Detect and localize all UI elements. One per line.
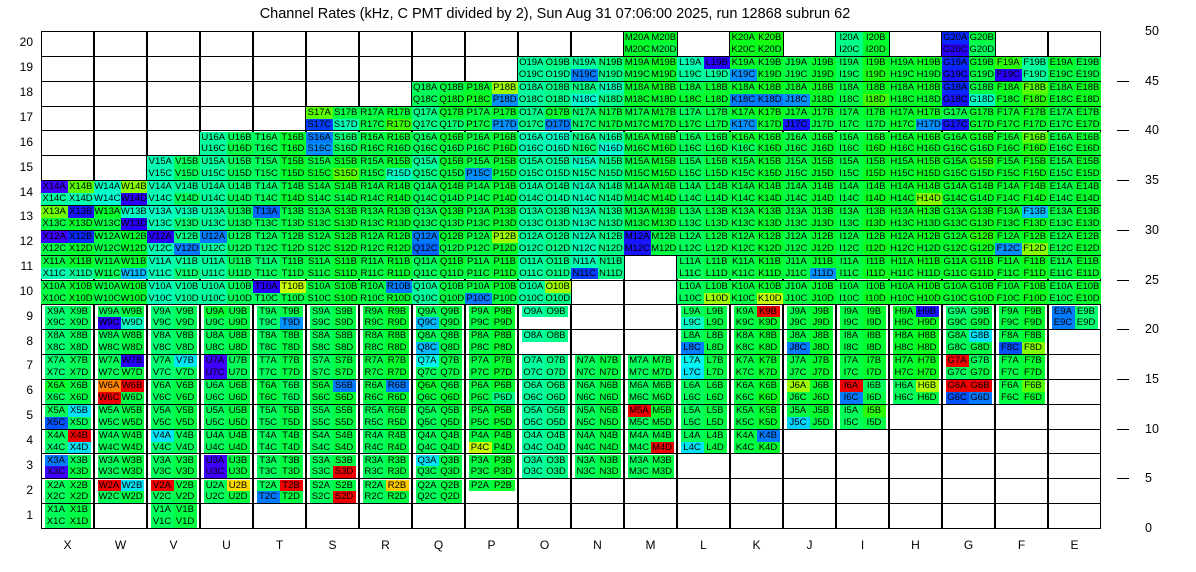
- channel-cell[interactable]: F10C: [995, 293, 1022, 305]
- channel-cell[interactable]: L19C: [677, 69, 704, 81]
- channel-cell[interactable]: I20B: [863, 32, 890, 44]
- channel-cell[interactable]: K14C: [730, 193, 757, 205]
- channel-cell[interactable]: P7A: [469, 355, 492, 367]
- channel-cell[interactable]: W6D: [121, 392, 144, 404]
- channel-cell[interactable]: I6D: [863, 392, 886, 404]
- channel-cell[interactable]: T13D: [280, 218, 307, 230]
- channel-cell[interactable]: O9A: [522, 306, 545, 318]
- channel-cell[interactable]: K20B: [757, 32, 784, 44]
- channel-cell[interactable]: K15D: [757, 168, 784, 180]
- channel-cell[interactable]: J8A: [787, 330, 810, 342]
- channel-cell[interactable]: P13C: [465, 218, 492, 230]
- channel-cell[interactable]: J10D: [810, 293, 837, 305]
- channel-cell[interactable]: H19B: [916, 57, 943, 69]
- channel-cell[interactable]: W7D: [121, 367, 144, 379]
- channel-cell[interactable]: E11C: [1048, 268, 1075, 280]
- channel-cell[interactable]: O10C: [518, 293, 545, 305]
- channel-cell[interactable]: H12B: [916, 231, 943, 243]
- channel-cell[interactable]: L18A: [677, 82, 704, 94]
- channel-cell[interactable]: E10B: [1075, 281, 1102, 293]
- channel-cell[interactable]: L16A: [677, 132, 704, 144]
- channel-cell[interactable]: W14A: [94, 181, 121, 193]
- channel-cell[interactable]: N4B: [598, 430, 621, 442]
- channel-cell[interactable]: Q6D: [439, 392, 462, 404]
- channel-cell[interactable]: E15B: [1075, 156, 1102, 168]
- channel-cell[interactable]: U12A: [200, 231, 227, 243]
- channel-cell[interactable]: T4A: [257, 430, 280, 442]
- channel-cell[interactable]: O4A: [522, 430, 545, 442]
- channel-cell[interactable]: M13B: [651, 206, 678, 218]
- channel-cell[interactable]: G14A: [942, 181, 969, 193]
- channel-cell[interactable]: F13D: [1022, 218, 1049, 230]
- channel-cell[interactable]: I15D: [863, 168, 890, 180]
- channel-cell[interactable]: J17B: [810, 107, 837, 119]
- channel-cell[interactable]: F18B: [1022, 82, 1049, 94]
- channel-cell[interactable]: N18A: [571, 82, 598, 94]
- channel-cell[interactable]: P3D: [492, 466, 515, 478]
- channel-cell[interactable]: S2A: [310, 480, 333, 492]
- channel-cell[interactable]: O15C: [518, 168, 545, 180]
- channel-cell[interactable]: P12D: [492, 243, 519, 255]
- channel-cell[interactable]: G11C: [942, 268, 969, 280]
- channel-cell[interactable]: P12A: [465, 231, 492, 243]
- channel-cell[interactable]: R14A: [359, 181, 386, 193]
- channel-cell[interactable]: V13C: [147, 218, 174, 230]
- channel-cell[interactable]: F7A: [999, 355, 1022, 367]
- channel-cell[interactable]: Q18C: [412, 94, 439, 106]
- channel-cell[interactable]: S12D: [333, 243, 360, 255]
- channel-cell[interactable]: K9B: [757, 306, 780, 318]
- channel-cell[interactable]: Q8A: [416, 330, 439, 342]
- channel-cell[interactable]: M14B: [651, 181, 678, 193]
- channel-cell[interactable]: P17A: [465, 107, 492, 119]
- channel-cell[interactable]: K13B: [757, 206, 784, 218]
- channel-cell[interactable]: R2D: [386, 491, 409, 503]
- channel-cell[interactable]: N12C: [571, 243, 598, 255]
- channel-cell[interactable]: O14D: [545, 193, 572, 205]
- channel-cell[interactable]: I10D: [863, 293, 890, 305]
- channel-cell[interactable]: F19C: [995, 69, 1022, 81]
- channel-cell[interactable]: T4C: [257, 442, 280, 454]
- channel-cell[interactable]: S3D: [333, 466, 356, 478]
- channel-cell[interactable]: K4B: [757, 430, 780, 442]
- channel-cell[interactable]: R10B: [386, 281, 413, 293]
- channel-cell[interactable]: F14A: [995, 181, 1022, 193]
- channel-cell[interactable]: E15A: [1048, 156, 1075, 168]
- channel-cell[interactable]: L9B: [704, 306, 727, 318]
- channel-cell[interactable]: Q6C: [416, 392, 439, 404]
- channel-cell[interactable]: E12C: [1048, 243, 1075, 255]
- channel-cell[interactable]: K18C: [730, 94, 757, 106]
- channel-cell[interactable]: M18C: [624, 94, 651, 106]
- channel-cell[interactable]: Q2B: [439, 480, 462, 492]
- channel-cell[interactable]: Q15D: [439, 168, 466, 180]
- channel-cell[interactable]: T2A: [257, 480, 280, 492]
- channel-cell[interactable]: S6C: [310, 392, 333, 404]
- channel-cell[interactable]: F12C: [995, 243, 1022, 255]
- channel-cell[interactable]: Q7C: [416, 367, 439, 379]
- channel-cell[interactable]: M7B: [651, 355, 674, 367]
- channel-cell[interactable]: M12C: [624, 243, 651, 255]
- channel-cell[interactable]: Q3A: [416, 455, 439, 467]
- channel-cell[interactable]: J5B: [810, 405, 833, 417]
- channel-cell[interactable]: U14D: [227, 193, 254, 205]
- channel-cell[interactable]: L19A: [677, 57, 704, 69]
- channel-cell[interactable]: V8B: [174, 330, 197, 342]
- channel-cell[interactable]: K13D: [757, 218, 784, 230]
- channel-cell[interactable]: P5A: [469, 405, 492, 417]
- channel-cell[interactable]: V11D: [174, 268, 201, 280]
- channel-cell[interactable]: P18A: [465, 82, 492, 94]
- channel-cell[interactable]: T12A: [253, 231, 280, 243]
- channel-cell[interactable]: H17D: [916, 119, 943, 131]
- channel-cell[interactable]: I12D: [863, 243, 890, 255]
- channel-cell[interactable]: H9B: [916, 306, 939, 318]
- channel-cell[interactable]: E15D: [1075, 168, 1102, 180]
- channel-cell[interactable]: G20C: [942, 44, 969, 56]
- channel-cell[interactable]: M3A: [628, 455, 651, 467]
- channel-cell[interactable]: T10B: [280, 281, 307, 293]
- channel-cell[interactable]: I6C: [840, 392, 863, 404]
- channel-cell[interactable]: L12D: [704, 243, 731, 255]
- channel-cell[interactable]: S11C: [306, 268, 333, 280]
- channel-cell[interactable]: K13A: [730, 206, 757, 218]
- channel-cell[interactable]: J15A: [783, 156, 810, 168]
- channel-cell[interactable]: E9B: [1075, 306, 1098, 318]
- channel-cell[interactable]: G18B: [969, 82, 996, 94]
- channel-cell[interactable]: O13D: [545, 218, 572, 230]
- channel-cell[interactable]: E9D: [1075, 317, 1098, 329]
- channel-cell[interactable]: U3C: [204, 466, 227, 478]
- channel-cell[interactable]: E17D: [1075, 119, 1102, 131]
- channel-cell[interactable]: I17C: [836, 119, 863, 131]
- channel-cell[interactable]: T7B: [280, 355, 303, 367]
- channel-cell[interactable]: U4B: [227, 430, 250, 442]
- channel-cell[interactable]: T14D: [280, 193, 307, 205]
- channel-cell[interactable]: F17A: [995, 107, 1022, 119]
- channel-cell[interactable]: S16D: [333, 143, 360, 155]
- channel-cell[interactable]: R16C: [359, 143, 386, 155]
- channel-cell[interactable]: M14C: [624, 193, 651, 205]
- channel-cell[interactable]: H17A: [889, 107, 916, 119]
- channel-cell[interactable]: U15B: [227, 156, 254, 168]
- channel-cell[interactable]: U13D: [227, 218, 254, 230]
- channel-cell[interactable]: O11A: [518, 256, 545, 268]
- channel-cell[interactable]: J15D: [810, 168, 837, 180]
- channel-cell[interactable]: Q9B: [439, 306, 462, 318]
- channel-cell[interactable]: I13D: [863, 218, 890, 230]
- channel-cell[interactable]: V11C: [147, 268, 174, 280]
- channel-cell[interactable]: V5C: [151, 417, 174, 429]
- channel-cell[interactable]: Q12A: [412, 231, 439, 243]
- channel-cell[interactable]: K18D: [757, 94, 784, 106]
- channel-cell[interactable]: L17C: [677, 119, 704, 131]
- channel-cell[interactable]: P8C: [469, 342, 492, 354]
- channel-cell[interactable]: P7D: [492, 367, 515, 379]
- channel-cell[interactable]: J13B: [810, 206, 837, 218]
- channel-cell[interactable]: O12D: [545, 243, 572, 255]
- channel-cell[interactable]: R5C: [363, 417, 386, 429]
- channel-cell[interactable]: G8B: [969, 330, 992, 342]
- channel-cell[interactable]: N16A: [571, 132, 598, 144]
- channel-cell[interactable]: T6B: [280, 380, 303, 392]
- channel-cell[interactable]: G20D: [969, 44, 996, 56]
- channel-cell[interactable]: O6D: [545, 392, 568, 404]
- channel-cell[interactable]: W12A: [94, 231, 121, 243]
- channel-cell[interactable]: N12B: [598, 231, 625, 243]
- channel-cell[interactable]: Q3D: [439, 466, 462, 478]
- channel-cell[interactable]: E11D: [1075, 268, 1102, 280]
- channel-cell[interactable]: X9A: [45, 306, 68, 318]
- channel-cell[interactable]: Q10C: [412, 293, 439, 305]
- channel-cell[interactable]: E13A: [1048, 206, 1075, 218]
- channel-cell[interactable]: K10C: [730, 293, 757, 305]
- channel-cell[interactable]: O17B: [545, 107, 572, 119]
- channel-cell[interactable]: T9D: [280, 317, 303, 329]
- channel-cell[interactable]: H12C: [889, 243, 916, 255]
- channel-cell[interactable]: E18C: [1048, 94, 1075, 106]
- channel-cell[interactable]: T10C: [253, 293, 280, 305]
- channel-cell[interactable]: T14A: [253, 181, 280, 193]
- channel-cell[interactable]: G19B: [969, 57, 996, 69]
- channel-cell[interactable]: N15B: [598, 156, 625, 168]
- channel-cell[interactable]: O13B: [545, 206, 572, 218]
- channel-cell[interactable]: G12A: [942, 231, 969, 243]
- channel-cell[interactable]: X10D: [68, 293, 95, 305]
- channel-cell[interactable]: K20C: [730, 44, 757, 56]
- channel-cell[interactable]: K7B: [757, 355, 780, 367]
- channel-cell[interactable]: H10B: [916, 281, 943, 293]
- channel-cell[interactable]: K13C: [730, 218, 757, 230]
- channel-cell[interactable]: J19C: [783, 69, 810, 81]
- channel-cell[interactable]: S8B: [333, 330, 356, 342]
- channel-cell[interactable]: T4D: [280, 442, 303, 454]
- channel-cell[interactable]: K12D: [757, 243, 784, 255]
- channel-cell[interactable]: U11D: [227, 268, 254, 280]
- channel-cell[interactable]: I5D: [863, 417, 886, 429]
- channel-cell[interactable]: L10A: [677, 281, 704, 293]
- channel-cell[interactable]: F18D: [1022, 94, 1049, 106]
- channel-cell[interactable]: N19B: [598, 57, 625, 69]
- channel-cell[interactable]: O4C: [522, 442, 545, 454]
- channel-cell[interactable]: S11A: [306, 256, 333, 268]
- channel-cell[interactable]: P13D: [492, 218, 519, 230]
- channel-cell[interactable]: J14D: [810, 193, 837, 205]
- channel-cell[interactable]: O15A: [518, 156, 545, 168]
- channel-cell[interactable]: F14C: [995, 193, 1022, 205]
- channel-cell[interactable]: I9D: [863, 317, 886, 329]
- channel-cell[interactable]: M15C: [624, 168, 651, 180]
- channel-cell[interactable]: G18C: [942, 94, 969, 106]
- channel-cell[interactable]: U4C: [204, 442, 227, 454]
- channel-cell[interactable]: J19D: [810, 69, 837, 81]
- channel-cell[interactable]: L12A: [677, 231, 704, 243]
- channel-cell[interactable]: G20B: [969, 32, 996, 44]
- channel-cell[interactable]: H11D: [916, 268, 943, 280]
- channel-cell[interactable]: I9A: [840, 306, 863, 318]
- channel-cell[interactable]: P13B: [492, 206, 519, 218]
- channel-cell[interactable]: R9C: [363, 317, 386, 329]
- channel-cell[interactable]: F15B: [1022, 156, 1049, 168]
- channel-cell[interactable]: M15D: [651, 168, 678, 180]
- channel-cell[interactable]: I18D: [863, 94, 890, 106]
- channel-cell[interactable]: I7B: [863, 355, 886, 367]
- channel-cell[interactable]: L6A: [681, 380, 704, 392]
- channel-cell[interactable]: V11A: [147, 256, 174, 268]
- channel-cell[interactable]: I5C: [840, 417, 863, 429]
- channel-cell[interactable]: K17A: [730, 107, 757, 119]
- channel-cell[interactable]: P6C: [469, 392, 492, 404]
- channel-cell[interactable]: S2D: [333, 491, 356, 503]
- channel-cell[interactable]: G12B: [969, 231, 996, 243]
- channel-cell[interactable]: X6B: [68, 380, 91, 392]
- channel-cell[interactable]: T2D: [280, 491, 303, 503]
- channel-cell[interactable]: I15C: [836, 168, 863, 180]
- channel-cell[interactable]: S16C: [306, 143, 333, 155]
- channel-cell[interactable]: O18B: [545, 82, 572, 94]
- channel-cell[interactable]: F6B: [1022, 380, 1045, 392]
- channel-cell[interactable]: M14A: [624, 181, 651, 193]
- channel-cell[interactable]: U2B: [227, 480, 250, 492]
- channel-cell[interactable]: S10C: [306, 293, 333, 305]
- channel-cell[interactable]: E15C: [1048, 168, 1075, 180]
- channel-cell[interactable]: W13A: [94, 206, 121, 218]
- channel-cell[interactable]: S13B: [333, 206, 360, 218]
- channel-cell[interactable]: J7C: [787, 367, 810, 379]
- channel-cell[interactable]: W10B: [121, 281, 148, 293]
- channel-cell[interactable]: V3D: [174, 466, 197, 478]
- channel-cell[interactable]: I17B: [863, 107, 890, 119]
- channel-cell[interactable]: R9A: [363, 306, 386, 318]
- channel-cell[interactable]: M17C: [624, 119, 651, 131]
- channel-cell[interactable]: L6C: [681, 392, 704, 404]
- channel-cell[interactable]: P14C: [465, 193, 492, 205]
- channel-cell[interactable]: O14A: [518, 181, 545, 193]
- channel-cell[interactable]: P7B: [492, 355, 515, 367]
- channel-cell[interactable]: T12C: [253, 243, 280, 255]
- channel-cell[interactable]: E17C: [1048, 119, 1075, 131]
- channel-cell[interactable]: H16C: [889, 143, 916, 155]
- channel-cell[interactable]: I19C: [836, 69, 863, 81]
- channel-cell[interactable]: I15B: [863, 156, 890, 168]
- channel-cell[interactable]: P16B: [492, 132, 519, 144]
- channel-cell[interactable]: V2B: [174, 480, 197, 492]
- channel-cell[interactable]: H18C: [889, 94, 916, 106]
- channel-cell[interactable]: E19A: [1048, 57, 1075, 69]
- channel-cell[interactable]: T10D: [280, 293, 307, 305]
- channel-cell[interactable]: N5B: [598, 405, 621, 417]
- channel-cell[interactable]: T10A: [253, 281, 280, 293]
- channel-cell[interactable]: U2D: [227, 491, 250, 503]
- channel-cell[interactable]: X3C: [45, 466, 68, 478]
- channel-cell[interactable]: L11B: [704, 256, 731, 268]
- channel-cell[interactable]: W8B: [121, 330, 144, 342]
- channel-cell[interactable]: N3D: [598, 466, 621, 478]
- channel-cell[interactable]: S15D: [333, 168, 360, 180]
- channel-cell[interactable]: N14D: [598, 193, 625, 205]
- channel-cell[interactable]: W8A: [98, 330, 121, 342]
- channel-cell[interactable]: U10A: [200, 281, 227, 293]
- channel-cell[interactable]: J17C: [783, 119, 810, 131]
- channel-cell[interactable]: J7D: [810, 367, 833, 379]
- channel-cell[interactable]: Q14B: [439, 181, 466, 193]
- channel-cell[interactable]: V7B: [174, 355, 197, 367]
- channel-cell[interactable]: P18D: [492, 94, 519, 106]
- channel-cell[interactable]: M15B: [651, 156, 678, 168]
- channel-cell[interactable]: L15C: [677, 168, 704, 180]
- channel-cell[interactable]: N17B: [598, 107, 625, 119]
- channel-cell[interactable]: K4A: [734, 430, 757, 442]
- channel-cell[interactable]: O18A: [518, 82, 545, 94]
- channel-cell[interactable]: S14D: [333, 193, 360, 205]
- channel-cell[interactable]: V3A: [151, 455, 174, 467]
- channel-cell[interactable]: M20A: [624, 32, 651, 44]
- channel-cell[interactable]: U5D: [227, 417, 250, 429]
- channel-cell[interactable]: Q7A: [416, 355, 439, 367]
- channel-cell[interactable]: K5A: [734, 405, 757, 417]
- channel-cell[interactable]: G16B: [969, 132, 996, 144]
- channel-cell[interactable]: E19C: [1048, 69, 1075, 81]
- channel-cell[interactable]: S4D: [333, 442, 356, 454]
- channel-cell[interactable]: K9A: [734, 306, 757, 318]
- channel-cell[interactable]: I17A: [836, 107, 863, 119]
- channel-cell[interactable]: K15A: [730, 156, 757, 168]
- channel-cell[interactable]: S6A: [310, 380, 333, 392]
- channel-cell[interactable]: J8C: [787, 342, 810, 354]
- channel-cell[interactable]: Q9D: [439, 317, 462, 329]
- channel-cell[interactable]: V14B: [174, 181, 201, 193]
- channel-cell[interactable]: X13D: [68, 218, 95, 230]
- channel-cell[interactable]: J15C: [783, 168, 810, 180]
- channel-cell[interactable]: G6B: [969, 380, 992, 392]
- channel-cell[interactable]: T7D: [280, 367, 303, 379]
- channel-cell[interactable]: R10C: [359, 293, 386, 305]
- channel-cell[interactable]: G20A: [942, 32, 969, 44]
- channel-cell[interactable]: F10B: [1022, 281, 1049, 293]
- channel-cell[interactable]: X8B: [68, 330, 91, 342]
- channel-cell[interactable]: Q17D: [439, 119, 466, 131]
- channel-cell[interactable]: J9B: [810, 306, 833, 318]
- channel-cell[interactable]: O19C: [518, 69, 545, 81]
- channel-cell[interactable]: X1A: [45, 504, 68, 516]
- channel-cell[interactable]: R7B: [386, 355, 409, 367]
- channel-cell[interactable]: P10C: [465, 293, 492, 305]
- channel-cell[interactable]: K20A: [730, 32, 757, 44]
- channel-cell[interactable]: R17D: [386, 119, 413, 131]
- channel-cell[interactable]: L15A: [677, 156, 704, 168]
- channel-cell[interactable]: H15C: [889, 168, 916, 180]
- channel-cell[interactable]: H16A: [889, 132, 916, 144]
- channel-cell[interactable]: E16D: [1075, 143, 1102, 155]
- channel-cell[interactable]: H7A: [893, 355, 916, 367]
- channel-cell[interactable]: X14B: [68, 181, 95, 193]
- channel-cell[interactable]: K16D: [757, 143, 784, 155]
- channel-cell[interactable]: V9D: [174, 317, 197, 329]
- channel-cell[interactable]: X7A: [45, 355, 68, 367]
- channel-cell[interactable]: N11C: [571, 268, 598, 280]
- channel-cell[interactable]: V12D: [174, 243, 201, 255]
- channel-cell[interactable]: G14D: [969, 193, 996, 205]
- channel-cell[interactable]: I9C: [840, 317, 863, 329]
- channel-cell[interactable]: W7C: [98, 367, 121, 379]
- channel-cell[interactable]: R12B: [386, 231, 413, 243]
- channel-cell[interactable]: V5B: [174, 405, 197, 417]
- channel-cell[interactable]: R11C: [359, 268, 386, 280]
- channel-cell[interactable]: O18C: [518, 94, 545, 106]
- channel-cell[interactable]: I8C: [840, 342, 863, 354]
- channel-cell[interactable]: T8B: [280, 330, 303, 342]
- channel-cell[interactable]: E18A: [1048, 82, 1075, 94]
